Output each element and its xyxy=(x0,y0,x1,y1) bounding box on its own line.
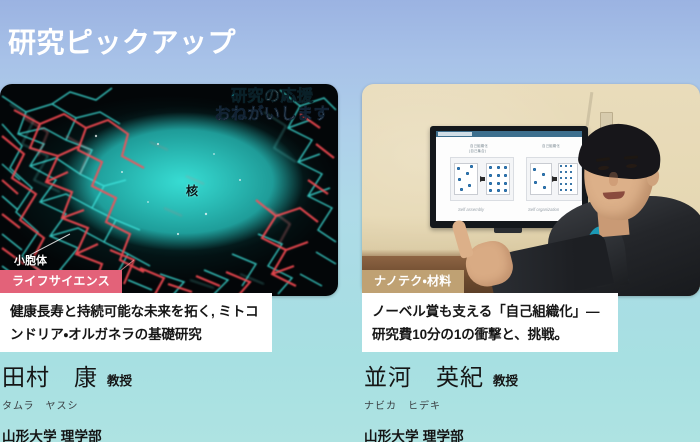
card-title-box-right[interactable]: ノーベル賞も支える「自己組織化」― 研究費10分の1の衝撃と、挑戦。 xyxy=(362,293,618,352)
category-badge-right[interactable]: ナノテク・材料 xyxy=(362,270,464,293)
person-nose xyxy=(609,172,618,186)
monitor-footer-left: Self assembly xyxy=(458,207,484,212)
researcher-name-row-left: 田村 康 教授 xyxy=(2,358,338,392)
overlay-ad-line1: 研究の応援 xyxy=(214,88,330,106)
category-badge-left[interactable]: ライフサイエンス xyxy=(0,270,122,293)
card-title-left: 健康長寿と持続可能な未来を拓く, ミトコンドリア・オルガネラの基礎研究 xyxy=(10,300,262,346)
researcher-role-right: 教授 xyxy=(493,370,518,389)
card-photo-left[interactable]: 小胞体 核 研究の応援 おねがいします xyxy=(0,84,338,296)
monitor-display: 自己組織化 (自己集合) 自己組織化 xyxy=(430,126,588,228)
overlay-ad-line2: おねがいします xyxy=(214,106,330,124)
research-pickup-page: 研究ピックアップ xyxy=(0,0,700,442)
interview-scene-image: 自己組織化 (自己集合) 自己組織化 xyxy=(362,84,700,296)
researcher-affiliation-right: 山形大学 理学部 xyxy=(364,425,700,442)
card-title-box-left[interactable]: 健康長寿と持続可能な未来を拓く, ミトコンドリア・オルガネラの基礎研究 xyxy=(0,293,272,352)
researcher-kana-left: タムラ ヤスシ xyxy=(2,397,338,412)
monitor-footer-right: Self organization xyxy=(528,207,559,212)
researcher-role-left: 教授 xyxy=(107,370,132,389)
overlay-ad-char: 究 xyxy=(247,88,264,105)
researcher-name-left: 田村 康 xyxy=(2,358,98,392)
card-title-right: ノーベル賞も支える「自己組織化」― 研究費10分の1の衝撃と、挑戦。 xyxy=(372,300,608,346)
microscopy-label-nucleus: 核 xyxy=(186,182,198,199)
monitor-arrow-icon xyxy=(552,176,557,182)
research-card-right[interactable]: 自己組織化 (自己集合) 自己組織化 xyxy=(362,84,700,442)
overlay-ad-char: の xyxy=(264,88,281,105)
overlay-ad-char: 研 xyxy=(231,88,248,105)
monitor-caption-left-sub: (自己集合) xyxy=(469,148,486,153)
researcher-kana-right: ナビカ ヒデキ xyxy=(364,397,700,412)
microscopy-label-er: 小胞体 xyxy=(14,252,47,268)
page-title: 研究ピックアップ xyxy=(8,21,236,65)
research-card-left[interactable]: 小胞体 核 研究の応援 おねがいします ライフサイエンス 健康長寿と持続可能な未… xyxy=(0,84,338,442)
researcher-name-row-right: 並河 英紀 教授 xyxy=(364,358,700,392)
monitor-stand xyxy=(494,228,522,233)
researcher-affiliation-left: 山形大学 理学部 xyxy=(2,425,338,442)
photo-overlay-ad: 研究の応援 おねがいします xyxy=(214,88,330,124)
overlay-ad-char: 援 xyxy=(297,88,314,105)
researcher-block-left: 田村 康 教授 タムラ ヤスシ 山形大学 理学部 xyxy=(2,358,338,442)
researcher-name-right: 並河 英紀 xyxy=(364,358,484,392)
researcher-block-right: 並河 英紀 教授 ナビカ ヒデキ 山形大学 理学部 xyxy=(364,358,700,442)
monitor-titlebar xyxy=(436,131,582,137)
monitor-caption-right: 自己組織化 xyxy=(542,143,560,148)
overlay-ad-char: 応 xyxy=(281,88,298,105)
microscopy-image: 小胞体 核 研究の応援 おねがいします xyxy=(0,84,338,296)
card-photo-right[interactable]: 自己組織化 (自己集合) 自己組織化 xyxy=(362,84,700,296)
monitor-arrow-icon xyxy=(480,176,485,182)
monitor-screen: 自己組織化 (自己集合) 自己組織化 xyxy=(436,131,582,221)
